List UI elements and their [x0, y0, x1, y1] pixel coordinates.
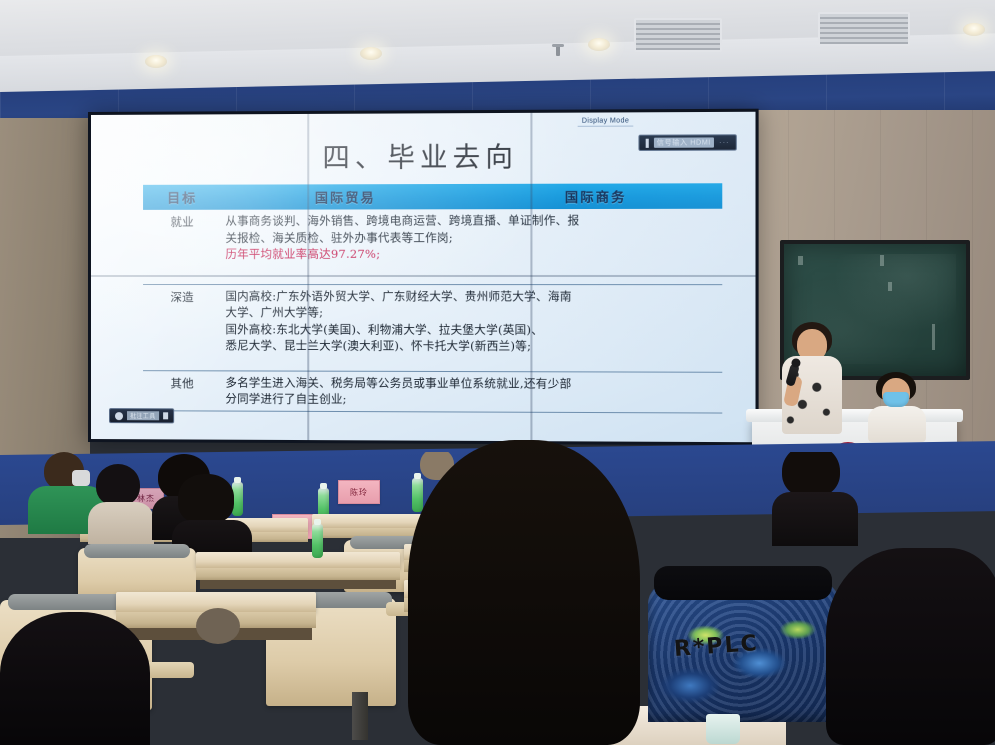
column-header-intl-trade: 国际贸易	[221, 184, 470, 210]
table-row: 其他 多名学生进入海关、税务局等公务员或事业单位系统就业,还有少部 分同学进行了…	[143, 370, 722, 412]
air-vent	[634, 18, 722, 52]
table-header-row: 目标 国际贸易 国际商务	[143, 183, 722, 210]
pen-icon[interactable]	[115, 412, 123, 420]
row-content-other: 多名学生进入海关、税务局等公务员或事业单位系统就业,还有少部 分同学进行了自主创…	[221, 370, 722, 412]
foreground-person-head	[826, 548, 995, 745]
row-label-other: 其他	[143, 370, 221, 410]
row-content-further-study: 国内高校:广东外语外贸大学、广东财经大学、贵州师范大学、海南 大学、广州大学等;…	[221, 284, 722, 372]
name-card: 陈玲	[338, 480, 380, 504]
annotation-toolbar[interactable]: 批注工具	[109, 408, 174, 423]
downlight	[963, 23, 985, 36]
sprinkler-head	[556, 44, 560, 56]
line: 悉尼大学、昆士兰大学(澳大利亚)、怀卡托大学(新西兰)等;	[225, 337, 718, 355]
line: 国外高校:东北大学(美国)、利物浦大学、拉夫堡大学(英国)、	[225, 321, 718, 338]
row-label-employment: 就业	[143, 210, 221, 284]
signal-source-label: 信号输入 HDMI	[654, 137, 714, 147]
paper-cup	[706, 714, 740, 744]
display-mode-osd: Display Mode	[578, 116, 634, 126]
seated-assistant	[868, 372, 926, 434]
line: 从事商务谈判、海外销售、跨境电商运营、跨境直播、单证制作、报	[225, 212, 718, 230]
foreground-person-head	[408, 440, 640, 745]
downlight	[360, 47, 382, 60]
water-bottle	[412, 478, 423, 512]
foreground-person-collar	[654, 566, 832, 600]
table-row: 就业 从事商务谈判、海外销售、跨境电商运营、跨境直播、单证制作、报 关报检、海关…	[143, 209, 722, 284]
line: 关报检、海关质检、驻外办事代表等工作岗;	[225, 229, 718, 246]
foreground-person-head	[0, 612, 150, 745]
air-vent	[818, 12, 910, 46]
downlight	[588, 38, 610, 51]
line: 多名学生进入海关、税务局等公务员或事业单位系统就业,还有少部	[225, 374, 718, 392]
row-content-employment: 从事商务谈判、海外销售、跨境电商运营、跨境直播、单证制作、报 关报检、海关质检、…	[221, 209, 722, 284]
badge-dots-icon: ···	[719, 139, 729, 146]
line: 大学、广州大学等;	[225, 304, 718, 321]
presentation-slide: Display Mode 信号输入 HDMI ··· 四、毕业去向 目标 国际贸…	[91, 112, 756, 442]
signal-source-badge[interactable]: 信号输入 HDMI ···	[638, 134, 737, 151]
face-mask-icon	[883, 392, 909, 407]
foreground-person-shirt: R*PLC	[648, 582, 840, 722]
signal-bar-icon	[645, 138, 648, 147]
downlight	[145, 55, 167, 68]
line: 国内高校:广东外语外贸大学、广东财经大学、贵州师范大学、海南	[225, 288, 718, 305]
column-header-goal: 目标	[143, 185, 221, 210]
row-label-further-study: 深造	[143, 284, 221, 370]
close-icon[interactable]	[163, 412, 168, 419]
table-row: 深造 国内高校:广东外语外贸大学、广东财经大学、贵州师范大学、海南 大学、广州大…	[143, 284, 722, 372]
video-wall-display[interactable]: Display Mode 信号输入 HDMI ··· 四、毕业去向 目标 国际贸…	[88, 109, 759, 446]
assistant-top	[868, 406, 926, 442]
toolbar-label: 批注工具	[127, 411, 159, 420]
column-header-intl-business: 国际商务	[470, 183, 722, 209]
lecture-hall-photo: Display Mode 信号输入 HDMI ··· 四、毕业去向 目标 国际贸…	[0, 0, 995, 745]
employment-rate-highlight: 历年平均就业率高达97.27%;	[225, 245, 718, 262]
graduate-destination-table: 目标 国际贸易 国际商务 就业 从事商务谈判、海外销售、跨境电商运营、跨境直播、…	[143, 183, 722, 413]
shirt-text: R*PLC	[673, 631, 759, 662]
line: 分同学进行了自主创业;	[225, 390, 718, 409]
